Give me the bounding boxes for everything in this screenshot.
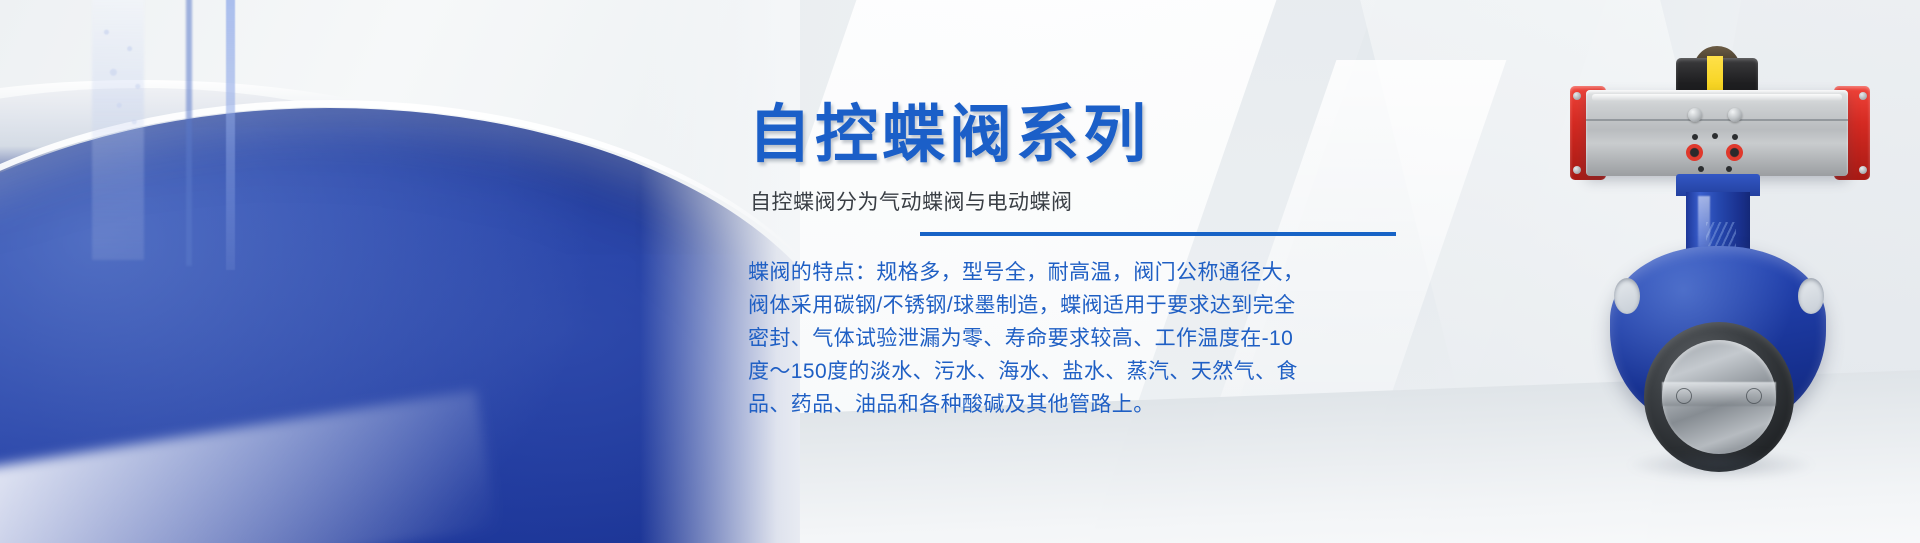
valve-drop-shadow bbox=[1626, 450, 1816, 480]
actuator-vent-hole bbox=[1692, 134, 1698, 140]
actuator-vent-hole bbox=[1712, 133, 1718, 139]
product-banner: 自控蝶阀系列 自控蝶阀分为气动蝶阀与电动蝶阀 蝶阀的特点：规格多，型号全，耐高温… bbox=[0, 0, 1920, 543]
pneumatic-butterfly-valve-photo bbox=[1570, 46, 1870, 516]
page-title: 自控蝶阀系列 bbox=[748, 104, 1150, 167]
end-cap-bolt bbox=[1573, 92, 1581, 100]
end-cap-bolt bbox=[1859, 166, 1867, 174]
description-line: 品、药品、油品和各种酸碱及其他管路上。 bbox=[748, 388, 1448, 421]
actuator-vent-hole bbox=[1698, 166, 1704, 172]
valve-lug-hole-right bbox=[1798, 278, 1824, 314]
actuator-bolt bbox=[1728, 108, 1742, 122]
air-port-right bbox=[1726, 144, 1743, 161]
description-line: 度～150度的淡水、污水、海水、盐水、蒸汽、天然气、食 bbox=[748, 355, 1448, 388]
valve-stem-texture bbox=[96, 18, 154, 136]
actuator-top-highlight bbox=[1592, 94, 1842, 101]
valve-lug-hole-left bbox=[1614, 278, 1640, 314]
banner-copy-block: 自控蝶阀系列 自控蝶阀分为气动蝶阀与电动蝶阀 蝶阀的特点：规格多，型号全，耐高温… bbox=[748, 0, 1448, 543]
valve-stem-edge bbox=[226, 0, 235, 270]
actuator-seam-line bbox=[1586, 119, 1848, 121]
description-paragraph: 蝶阀的特点：规格多，型号全，耐高温，阀门公称通径大， 阀体采用碳钢/不锈钢/球墨… bbox=[748, 256, 1448, 421]
subtitle: 自控蝶阀分为气动蝶阀与电动蝶阀 bbox=[750, 192, 1073, 213]
description-line: 密封、气体试验泄漏为零、寿命要求较高、工作温度在-10 bbox=[748, 322, 1448, 355]
air-port-left bbox=[1686, 144, 1703, 161]
actuator-bolt bbox=[1688, 108, 1702, 122]
description-line: 蝶阀的特点：规格多，型号全，耐高温，阀门公称通径大， bbox=[748, 256, 1448, 289]
end-cap-bolt bbox=[1573, 166, 1581, 174]
actuator-vent-hole bbox=[1726, 166, 1732, 172]
disc-marking-right bbox=[1746, 388, 1762, 404]
end-cap-bolt bbox=[1859, 92, 1867, 100]
title-divider-rule bbox=[920, 232, 1396, 236]
description-line: 阀体采用碳钢/不锈钢/球墨制造，蝶阀适用于要求达到完全 bbox=[748, 289, 1448, 322]
valve-stem-rib bbox=[186, 0, 192, 266]
actuator-vent-hole bbox=[1732, 134, 1738, 140]
disc-marking-left bbox=[1676, 388, 1692, 404]
blue-valve-closeup-photo bbox=[0, 0, 800, 543]
